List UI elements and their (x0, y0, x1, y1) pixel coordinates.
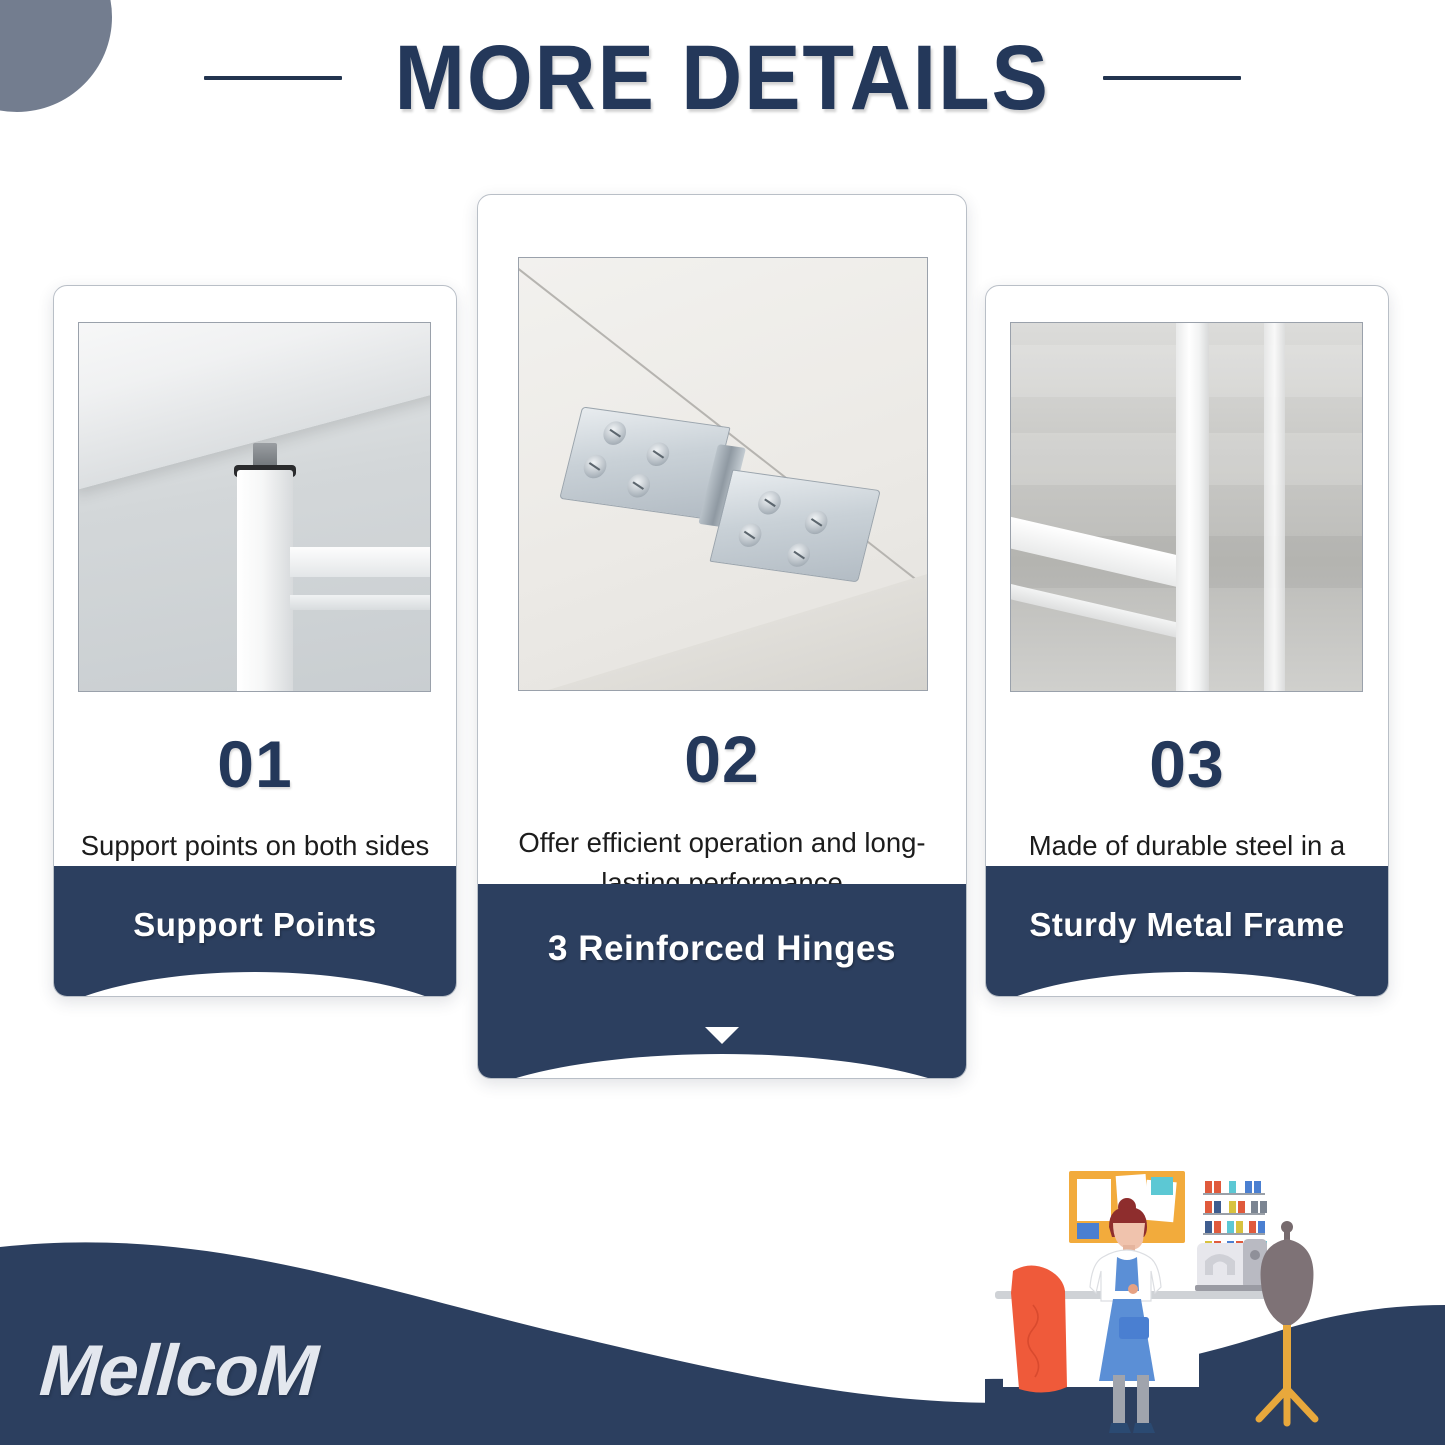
card-02-banner-label: 3 Reinforced Hinges (478, 884, 966, 969)
card-02-number: 02 (478, 721, 966, 797)
feature-card-03[interactable]: 03 Made of durable steel in a white fini… (985, 285, 1389, 997)
feature-card-01[interactable]: 01 Support points on both sides are used… (53, 285, 457, 997)
card-01-number: 01 (54, 726, 456, 802)
brand-logo: MellcoM (37, 1330, 320, 1412)
card-03-banner-label: Sturdy Metal Frame (986, 866, 1388, 944)
card-01-photo (78, 322, 431, 692)
card-02-banner: 3 Reinforced Hinges (478, 884, 966, 1078)
card-01-banner-label: Support Points (54, 866, 456, 944)
card-01-banner: Support Points (54, 866, 456, 996)
card-03-number: 03 (986, 726, 1388, 802)
card-02-photo (518, 257, 928, 691)
card-03-banner: Sturdy Metal Frame (986, 866, 1388, 996)
feature-cards-container: 01 Support points on both sides are used… (0, 0, 1445, 1230)
feature-card-02[interactable]: 02 Offer efficient operation and long-la… (477, 194, 967, 1079)
chevron-down-icon[interactable] (705, 1027, 739, 1044)
card-03-photo (1010, 322, 1363, 692)
sewing-room-illustration (985, 1165, 1445, 1445)
